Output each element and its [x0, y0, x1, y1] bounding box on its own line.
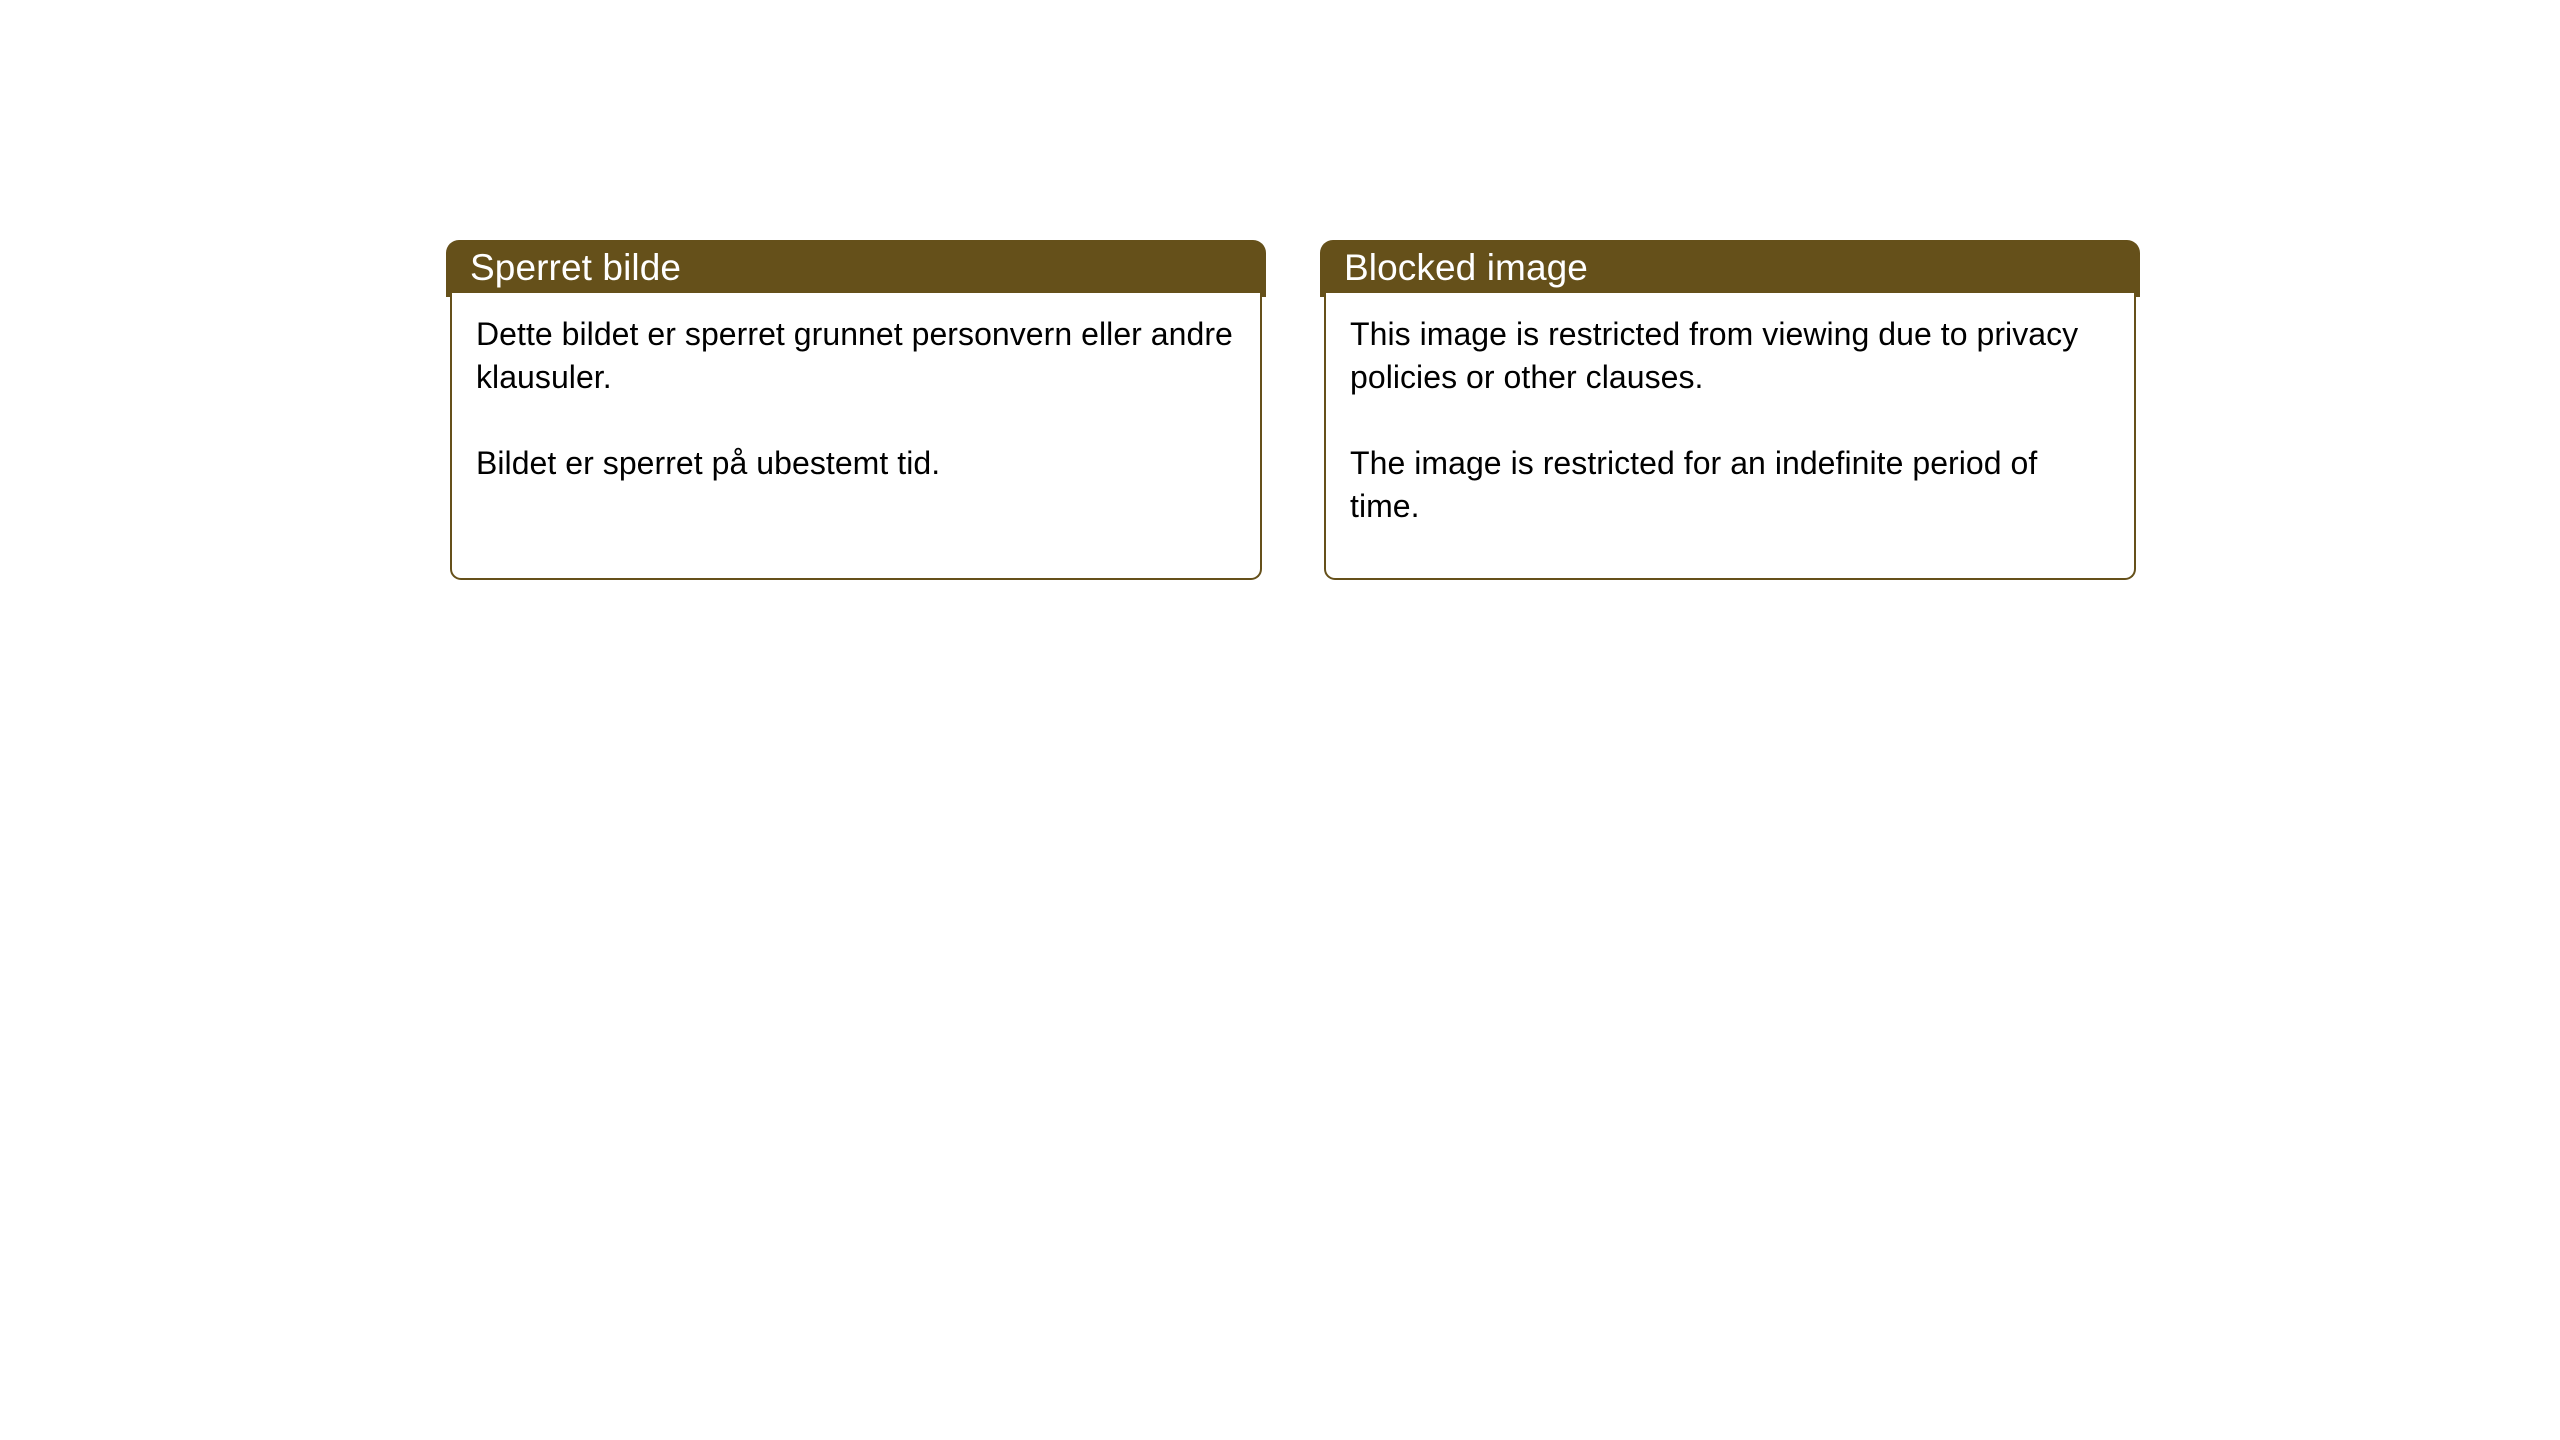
panel-title-english: Blocked image — [1320, 249, 1588, 286]
panel-header-english: Blocked image — [1320, 240, 2140, 297]
blocked-image-notice-panel-english: Blocked image This image is restricted f… — [1320, 240, 2140, 580]
blocked-image-notice-panel-norwegian: Sperret bilde Dette bildet er sperret gr… — [446, 240, 1266, 580]
notice-paragraph-reason-english: This image is restricted from viewing du… — [1350, 313, 2110, 399]
panel-body-english: This image is restricted from viewing du… — [1324, 293, 2136, 580]
panel-header-norwegian: Sperret bilde — [446, 240, 1266, 297]
page-canvas: Sperret bilde Dette bildet er sperret gr… — [0, 0, 2560, 1440]
panel-title-norwegian: Sperret bilde — [446, 249, 681, 286]
notice-paragraph-reason-norwegian: Dette bildet er sperret grunnet personve… — [476, 313, 1236, 399]
notice-paragraph-duration-norwegian: Bildet er sperret på ubestemt tid. — [476, 442, 1236, 485]
notice-paragraph-duration-english: The image is restricted for an indefinit… — [1350, 442, 2110, 528]
panel-body-norwegian: Dette bildet er sperret grunnet personve… — [450, 293, 1262, 580]
